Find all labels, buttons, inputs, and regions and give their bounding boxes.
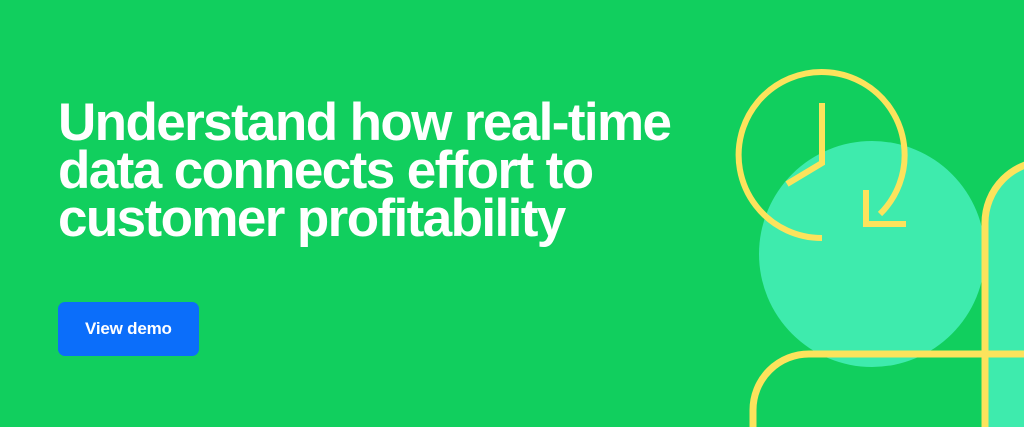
- promo-banner: Understand how real-time data connects e…: [0, 0, 1024, 427]
- clock-hands: [787, 103, 822, 184]
- yellow-rounded-corner-outline: [753, 354, 1024, 427]
- teal-bottom-right-block: [989, 358, 1024, 427]
- view-demo-button[interactable]: View demo: [58, 302, 199, 356]
- yellow-vertical-divider: [985, 161, 1024, 427]
- teal-right-panel-shape: [985, 160, 1024, 427]
- refresh-arrowhead: [866, 190, 906, 224]
- page-title: Understand how real-time data connects e…: [58, 99, 748, 243]
- clock-arc: [739, 72, 905, 238]
- teal-right-panel: [985, 160, 1024, 427]
- teal-circle: [759, 141, 985, 367]
- banner-content: Understand how real-time data connects e…: [0, 0, 760, 427]
